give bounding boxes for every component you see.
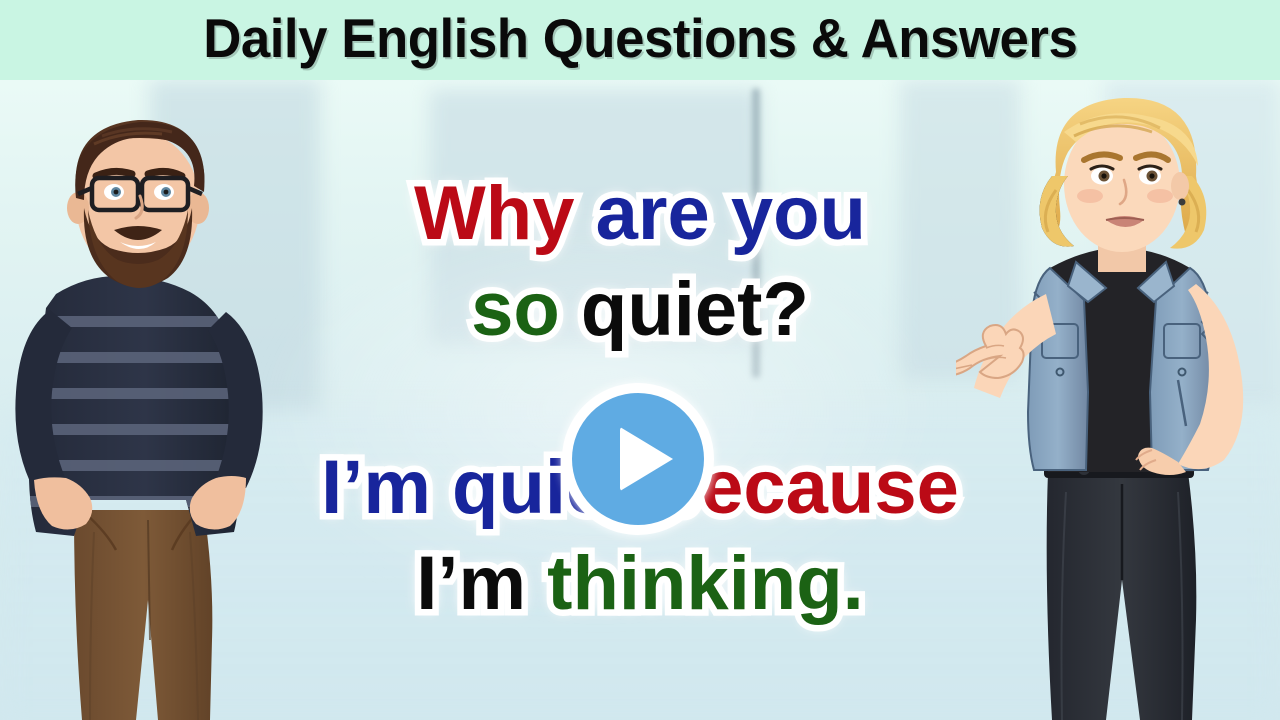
title-banner: Daily English Questions & Answers: [0, 0, 1280, 80]
character-man: [0, 80, 320, 720]
play-icon: [620, 427, 673, 491]
play-button[interactable]: [562, 383, 714, 535]
page-title: Daily English Questions & Answers: [203, 11, 1077, 69]
video-thumbnail: Daily English Questions & Answers: [0, 0, 1280, 720]
scene-background: Why are you so quiet? I’m quiet because …: [0, 80, 1280, 720]
character-woman: [956, 80, 1280, 720]
